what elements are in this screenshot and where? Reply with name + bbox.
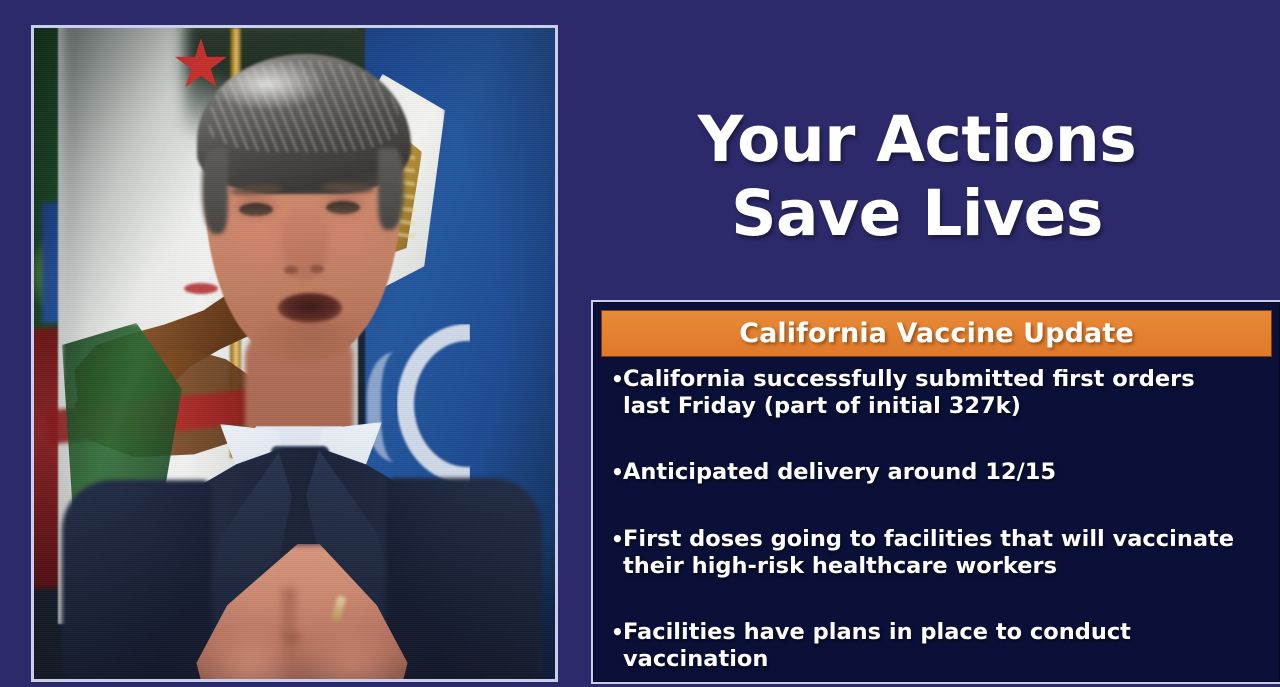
bullet-glyph-icon: • — [611, 526, 623, 553]
bullet-text: Facilities have plans in place to conduc… — [623, 619, 1261, 673]
bullet-text: Anticipated delivery around 12/15 — [623, 459, 1211, 486]
speaker-hands-knuckle — [278, 628, 306, 648]
speaker-nostril-left — [284, 266, 298, 274]
panel-header-bar: California Vaccine Update — [601, 310, 1272, 357]
bullet-item: • Facilities have plans in place to cond… — [611, 619, 1261, 673]
bullet-glyph-icon: • — [611, 366, 623, 393]
bullet-glyph-icon: • — [611, 459, 623, 486]
presentation-slide: Your Actions Save Lives California Vacci… — [558, 0, 1280, 687]
bullet-item: • First doses going to facilities that w… — [611, 526, 1236, 580]
bullet-glyph-icon: • — [611, 619, 623, 646]
speaker-shoulder-left — [62, 480, 212, 679]
bullet-item: • California successfully submitted firs… — [611, 366, 1207, 420]
speaker-chin-shadow — [256, 322, 364, 366]
vaccine-update-panel: California Vaccine Update • California s… — [591, 300, 1280, 684]
bullet-item: • Anticipated delivery around 12/15 — [611, 459, 1211, 486]
speaker-sideburn-right — [378, 148, 404, 230]
speaker-nostril-right — [310, 265, 324, 273]
briefing-screen: Your Actions Save Lives California Vacci… — [0, 0, 1280, 687]
speaker-mouth — [278, 293, 342, 323]
speaker-shoulder-right — [386, 478, 542, 679]
bullet-list: • California successfully submitted firs… — [611, 366, 1264, 676]
video-frame — [34, 28, 555, 679]
bullet-text: First doses going to facilities that wil… — [623, 526, 1236, 580]
slide-title: Your Actions Save Lives — [558, 103, 1276, 251]
speaker-sideburn-left — [202, 148, 228, 234]
speaker-eye-left — [239, 203, 273, 216]
speaker-eye-right — [326, 201, 360, 214]
bullet-text: California successfully submitted first … — [623, 366, 1207, 420]
speaker-figure — [34, 28, 555, 679]
video-pane[interactable] — [31, 25, 558, 682]
panel-header-title: California Vaccine Update — [739, 318, 1134, 349]
